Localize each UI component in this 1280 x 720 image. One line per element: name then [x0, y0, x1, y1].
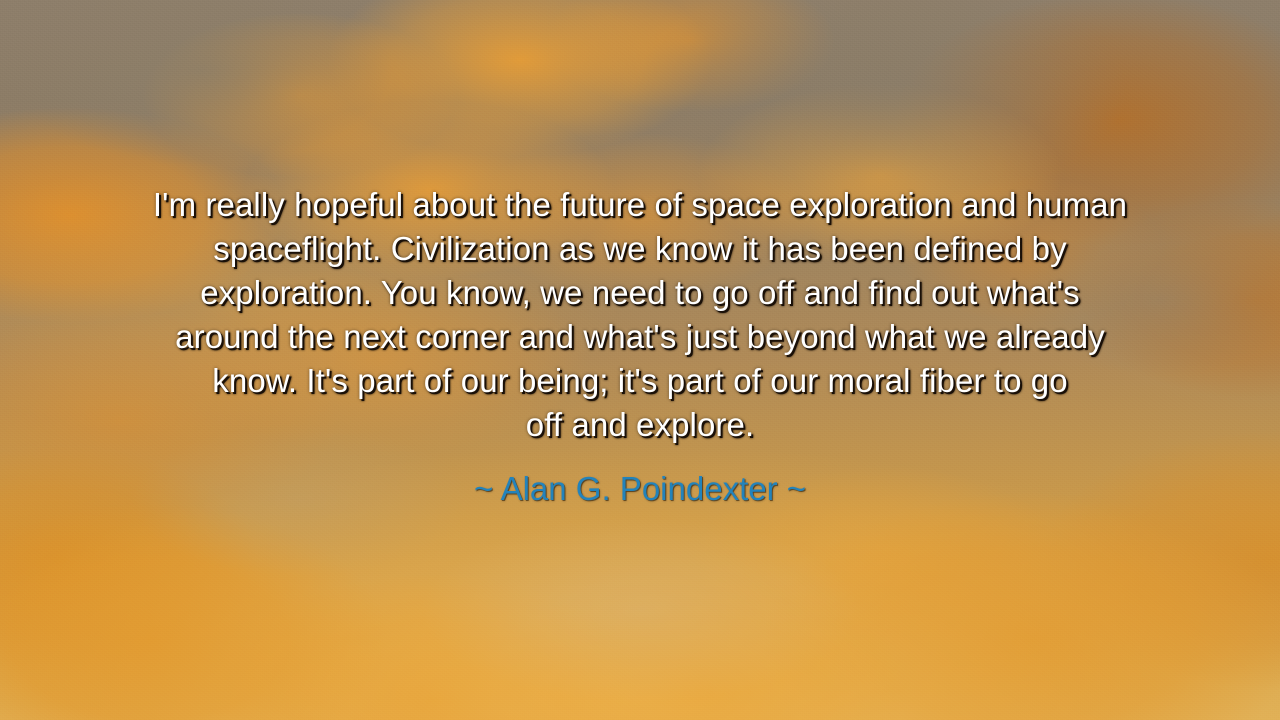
- quote-image-canvas: I'm really hopeful about the future of s…: [0, 0, 1280, 720]
- quote-card: I'm really hopeful about the future of s…: [0, 0, 1280, 720]
- quote-attribution: ~ Alan G. Poindexter ~: [474, 469, 806, 509]
- quote-content-group: I'm really hopeful about the future of s…: [101, 183, 1179, 509]
- quote-text: I'm really hopeful about the future of s…: [101, 183, 1179, 447]
